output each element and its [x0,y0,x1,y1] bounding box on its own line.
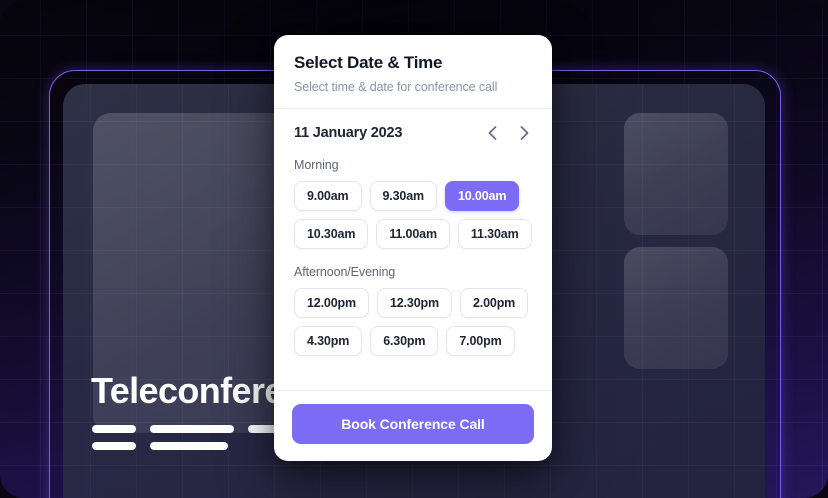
date-navigation-row: 11 January 2023 [294,125,532,141]
morning-slot-list: 9.00am 9.30am 10.00am 10.30am 11.00am 11… [294,181,532,249]
date-nav-controls [484,125,532,141]
modal-title: Select Date & Time [294,53,532,73]
time-slot-9-30am[interactable]: 9.30am [370,181,438,211]
skeleton-row-2 [92,442,228,450]
modal-footer: Book Conference Call [274,390,552,461]
skeleton-bar [150,442,228,450]
chevron-left-icon[interactable] [484,125,500,141]
time-slot-11-00am[interactable]: 11.00am [376,219,450,249]
afternoon-section-label: Afternoon/Evening [294,265,532,279]
morning-section-label: Morning [294,158,532,172]
select-date-time-modal: Select Date & Time Select time & date fo… [274,35,552,461]
book-conference-call-button[interactable]: Book Conference Call [292,404,534,444]
time-slot-6-30pm[interactable]: 6.30pm [370,326,438,356]
modal-body: 11 January 2023 Morning 9.0 [274,109,552,390]
chevron-right-icon[interactable] [516,125,532,141]
skeleton-row-1 [92,425,288,433]
time-slot-10-00am[interactable]: 10.00am [445,181,519,211]
time-slot-11-30am[interactable]: 11.30am [458,219,532,249]
time-slot-9-00am[interactable]: 9.00am [294,181,362,211]
app-canvas: Teleconference Select Date & Time Select… [0,0,828,498]
modal-header: Select Date & Time Select time & date fo… [274,35,552,109]
skeleton-bar [92,425,136,433]
time-slot-7-00pm[interactable]: 7.00pm [446,326,514,356]
time-slot-2-00pm[interactable]: 2.00pm [460,288,528,318]
selected-date-label: 11 January 2023 [294,125,402,141]
afternoon-slot-list: 12.00pm 12.30pm 2.00pm 4.30pm 6.30pm 7.0… [294,288,532,356]
skeleton-bar [150,425,234,433]
time-slot-12-00pm[interactable]: 12.00pm [294,288,369,318]
time-slot-10-30am[interactable]: 10.30am [294,219,368,249]
time-slot-12-30pm[interactable]: 12.30pm [377,288,452,318]
skeleton-bar [92,442,136,450]
participant-tile-1 [624,113,728,235]
time-slot-4-30pm[interactable]: 4.30pm [294,326,362,356]
participant-tile-2 [624,247,728,369]
modal-subtitle: Select time & date for conference call [294,80,532,94]
